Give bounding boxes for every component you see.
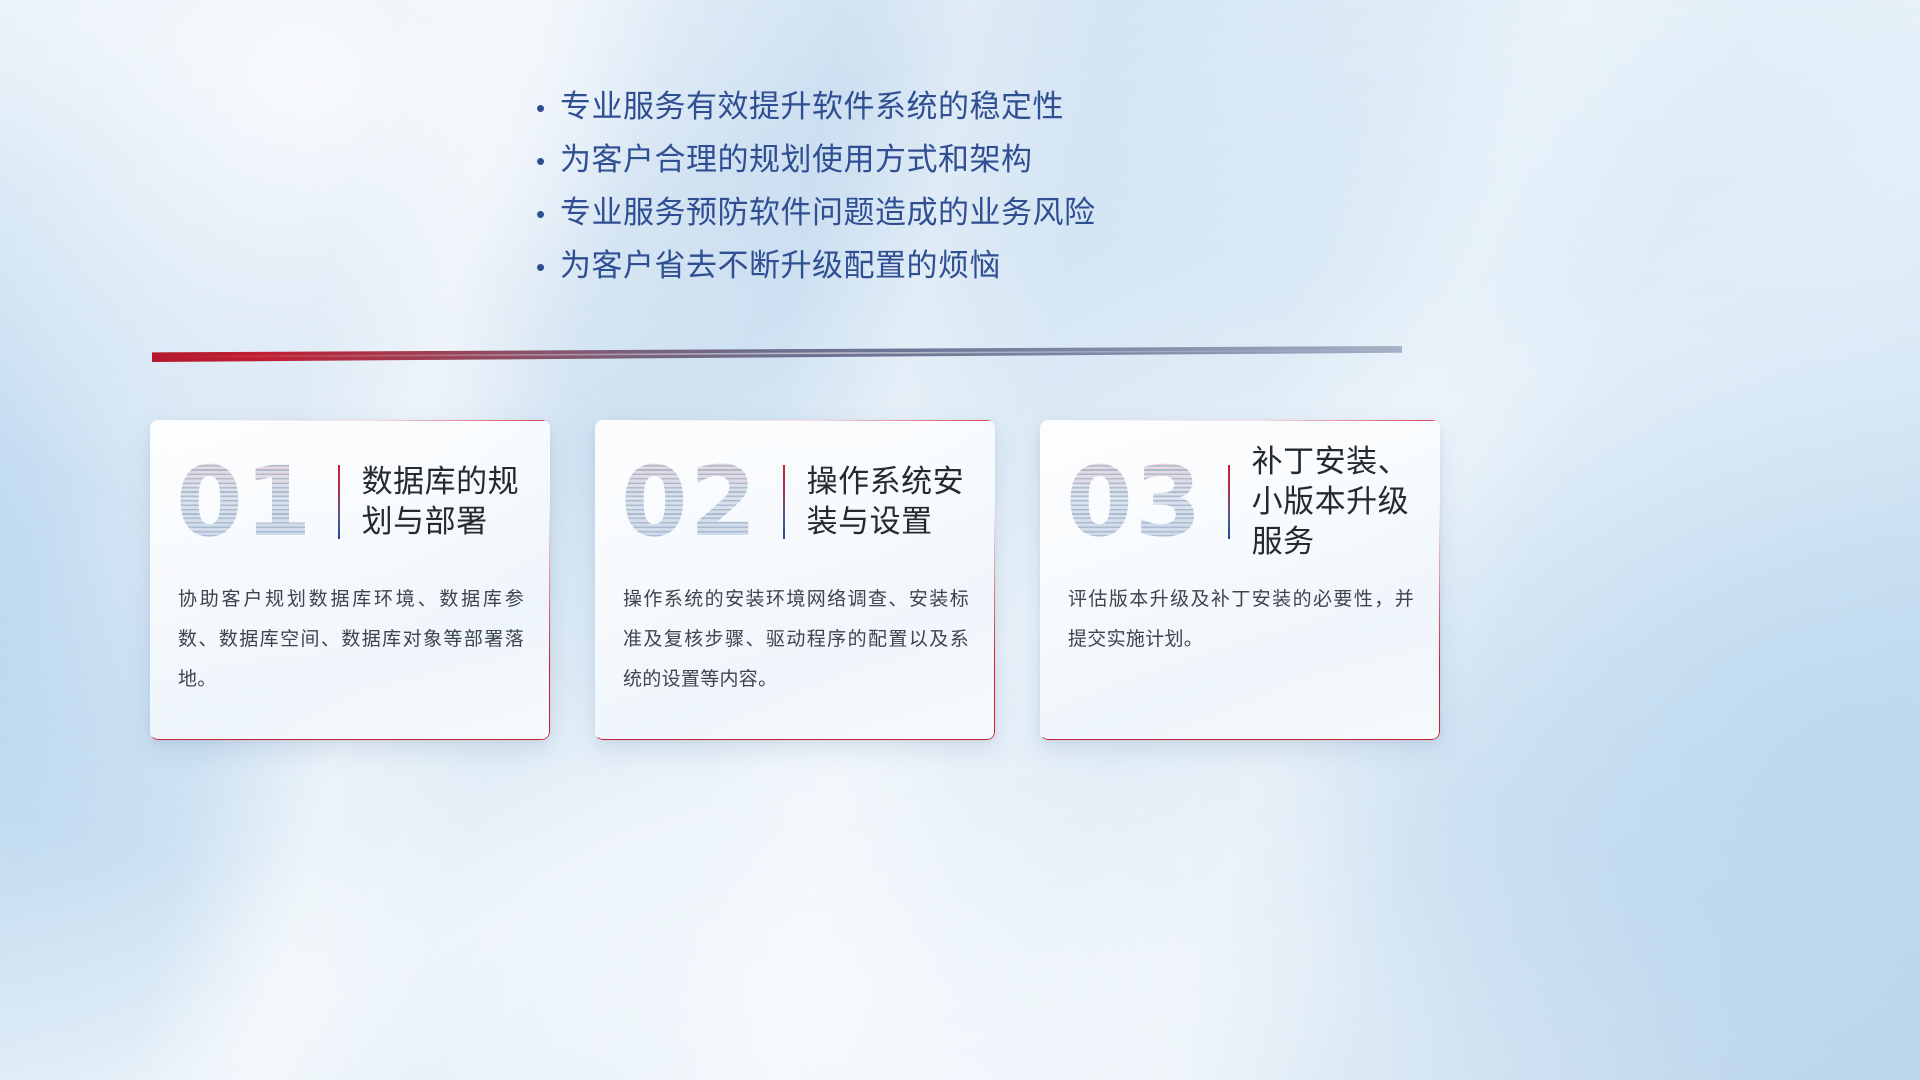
card-top-edge: [1040, 420, 1440, 421]
section-divider: [152, 346, 1402, 362]
card-description: 协助客户规划数据库环境、数据库参数、数据库空间、数据库对象等部署落地。: [178, 580, 524, 700]
card-number: 01: [176, 454, 314, 550]
bullet-item: • 专业服务有效提升软件系统的稳定性: [530, 88, 1290, 141]
bullet-text: 为客户合理的规划使用方式和架构: [560, 141, 1033, 178]
card-number: 03: [1066, 454, 1204, 550]
card-divider-bar: [1228, 465, 1230, 539]
card-title: 数据库的规划与部署: [362, 462, 550, 541]
bullet-dot-icon: •: [530, 254, 560, 280]
card-top-edge: [150, 420, 550, 421]
card-row: 01 数据库的规划与部署 协助客户规划数据库环境、数据库参数、数据库空间、数据库…: [150, 420, 1440, 740]
bullet-list: • 专业服务有效提升软件系统的稳定性 • 为客户合理的规划使用方式和架构 • 专…: [530, 88, 1290, 300]
bullet-dot-icon: •: [530, 95, 560, 121]
bullet-text: 专业服务预防软件问题造成的业务风险: [560, 194, 1096, 231]
service-card-02[interactable]: 02 操作系统安装与设置 操作系统的安装环境网络调查、安装标准及复核步骤、驱动程…: [595, 420, 995, 740]
bullet-dot-icon: •: [530, 148, 560, 174]
card-number: 02: [621, 454, 759, 550]
service-card-03[interactable]: 03 补丁安装、小版本升级服务 评估版本升级及补丁安装的必要性，并提交实施计划。: [1040, 420, 1440, 740]
bullet-item: • 为客户省去不断升级配置的烦恼: [530, 247, 1290, 300]
slide-canvas: • 专业服务有效提升软件系统的稳定性 • 为客户合理的规划使用方式和架构 • 专…: [0, 0, 1920, 1080]
bullet-text: 为客户省去不断升级配置的烦恼: [560, 247, 1001, 284]
card-divider-bar: [783, 465, 785, 539]
card-description: 评估版本升级及补丁安装的必要性，并提交实施计划。: [1068, 580, 1414, 660]
bullet-text: 专业服务有效提升软件系统的稳定性: [560, 88, 1064, 125]
card-title: 操作系统安装与设置: [807, 462, 995, 541]
card-divider-bar: [338, 465, 340, 539]
card-header: 03 补丁安装、小版本升级服务: [1040, 442, 1440, 562]
bullet-item: • 专业服务预防软件问题造成的业务风险: [530, 194, 1290, 247]
card-description: 操作系统的安装环境网络调查、安装标准及复核步骤、驱动程序的配置以及系统的设置等内…: [623, 580, 969, 700]
card-title: 补丁安装、小版本升级服务: [1252, 442, 1440, 561]
card-header: 02 操作系统安装与设置: [595, 442, 995, 562]
card-top-edge: [595, 420, 995, 421]
service-card-01[interactable]: 01 数据库的规划与部署 协助客户规划数据库环境、数据库参数、数据库空间、数据库…: [150, 420, 550, 740]
bullet-item: • 为客户合理的规划使用方式和架构: [530, 141, 1290, 194]
card-header: 01 数据库的规划与部署: [150, 442, 550, 562]
bullet-dot-icon: •: [530, 201, 560, 227]
